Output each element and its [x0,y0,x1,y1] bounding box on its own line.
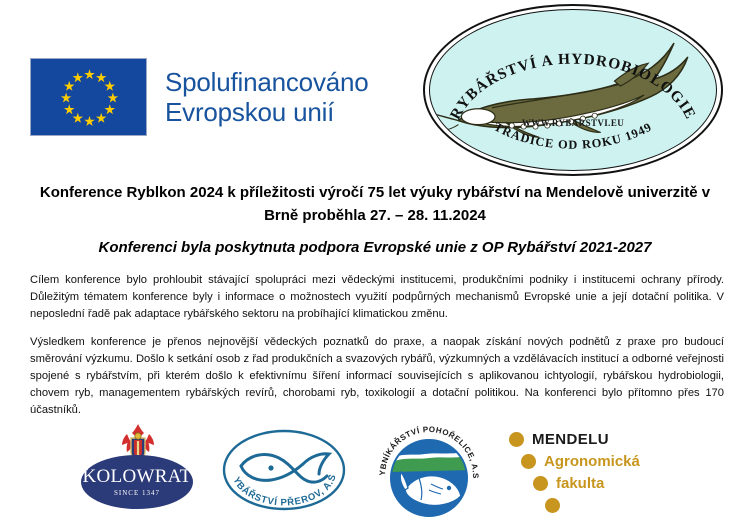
partner-logos-row: KOLOWRAT SINCE 1347 RYBÁŘSTVÍ PŘEROV, A.… [0,418,750,530]
eu-star-icon [64,104,75,115]
logo-rybnikarstvi-pohorelice: RYBNÍKÁŘSTVÍ POHOŘELICE, A.S. [375,422,483,526]
page-title: Konference Ryblkon 2024 k příležitosti v… [34,182,716,228]
logo-rybarstvi-prerov: RYBÁŘSTVÍ PŘEROV, A.S. [219,422,349,518]
eu-star-icon [84,116,95,127]
mendelu-row-2: Agronomická [509,450,669,472]
carp-circle-icon: RYBNÍKÁŘSTVÍ POHOŘELICE, A.S. [375,422,483,526]
eu-text-line1: Spolufinancováno [165,67,369,97]
fish-oval-icon: RYBÁŘSTVÍ PŘEROV, A.S. [219,422,349,518]
eu-star-icon [104,104,115,115]
fishery-hydrobiology-logo: RYBÁŘSTVÍ A HYDROBIOLOGIE TRADICE OD ROK… [423,4,723,176]
eu-star-icon [64,81,75,92]
oval-inner-field: RYBÁŘSTVÍ A HYDROBIOLOGIE TRADICE OD ROK… [429,9,717,171]
eu-star-icon [72,113,83,124]
page-subtitle: Konferenci byla poskytnuta podpora Evrop… [34,237,716,258]
eu-flag-icon [30,58,147,136]
paragraph-1: Cílem konference bylo prohloubit stávají… [30,272,724,323]
eu-text-line2: Evropskou unií [165,97,369,127]
sturgeon-fish-icon: RYBÁŘSTVÍ A HYDROBIOLOGIE TRADICE OD ROK… [430,10,716,170]
eu-star-icon [104,81,115,92]
kolowrat-tagline: SINCE 1347 [114,489,160,497]
kolowrat-oval: KOLOWRAT SINCE 1347 [81,455,193,509]
body-text-block: Cílem konference bylo prohloubit stávají… [0,272,750,419]
mendelu-dot-icon [521,454,536,469]
mendelu-name: MENDELU [524,431,609,448]
mendelu-row-4 [509,494,669,516]
oval-web-text: WWW.RYBARSTVI.EU [430,118,716,128]
mendelu-dot-icon [533,476,548,491]
headings-block: Konference Ryblkon 2024 k příležitosti v… [0,182,750,258]
logo-kolowrat: KOLOWRAT SINCE 1347 [81,422,193,522]
kolowrat-name: KOLOWRAT [83,467,192,486]
mendelu-dot-icon [545,498,560,513]
mendelu-row-3: fakulta [509,472,669,494]
mendelu-faculty-line2: fakulta [548,475,604,492]
eu-star-icon [72,72,83,83]
mendelu-dot-icon [509,432,524,447]
eu-cofunding-logo: Spolufinancováno Evropskou unií [30,58,369,136]
eu-star-icon [84,69,95,80]
logo-mendelu: MENDELU Agronomická fakulta [509,422,669,520]
mendelu-row-1: MENDELU [509,428,669,450]
paragraph-2: Výsledkem konference je přenos nejnovějš… [30,334,724,419]
eu-star-icon [61,93,72,104]
mendelu-faculty-line1: Agronomická [536,453,640,470]
eu-star-icon [107,93,118,104]
eu-star-icon [96,72,107,83]
eu-cofunding-text: Spolufinancováno Evropskou unií [165,67,369,128]
page-header: Spolufinancováno Evropskou unií [0,0,750,180]
eu-star-icon [96,113,107,124]
